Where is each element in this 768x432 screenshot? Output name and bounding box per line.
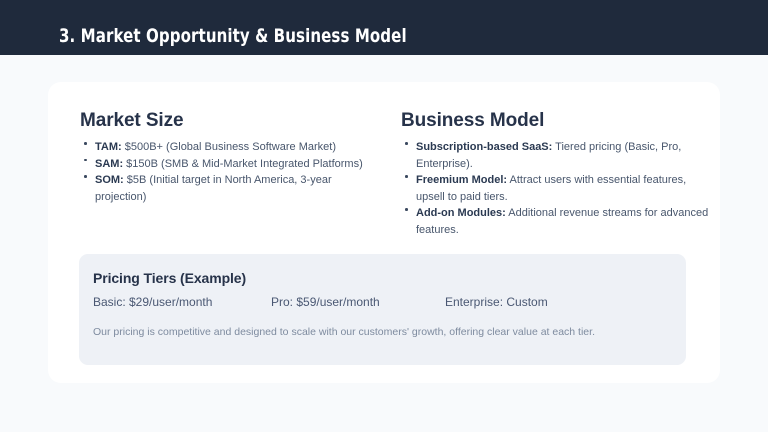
bullet-dot-icon <box>405 142 408 145</box>
column-heading-market-size: Market Size <box>80 110 380 132</box>
list-item: SAM: $150B (SMB & Mid-Market Integrated … <box>80 156 380 173</box>
pricing-note: Our pricing is competitive and designed … <box>93 325 665 340</box>
column-heading-business-model: Business Model <box>401 110 711 132</box>
business-model-bullet-list: Subscription-based SaaS: Tiered pricing … <box>401 139 711 238</box>
list-item-text: $5B (Initial target in North America, 3-… <box>95 174 332 203</box>
pricing-tier-basic: Basic: $29/user/month <box>93 294 212 310</box>
pricing-tier-enterprise: Enterprise: Custom <box>445 294 548 310</box>
list-item-label: Add-on Modules: <box>416 207 506 219</box>
column-business-model: Business Model Subscription-based SaaS: … <box>401 110 711 238</box>
page-title: 3. Market Opportunity & Business Model <box>59 25 407 47</box>
bullet-dot-icon <box>84 142 87 145</box>
column-market-size: Market Size TAM: $500B+ (Global Business… <box>80 110 380 205</box>
content-card: Market Size TAM: $500B+ (Global Business… <box>48 82 720 383</box>
pricing-tiers-panel: Pricing Tiers (Example) Basic: $29/user/… <box>79 254 686 365</box>
list-item: Freemium Model: Attract users with essen… <box>401 172 711 205</box>
list-item: TAM: $500B+ (Global Business Software Ma… <box>80 139 380 156</box>
market-size-bullet-list: TAM: $500B+ (Global Business Software Ma… <box>80 139 380 205</box>
bullet-dot-icon <box>405 208 408 211</box>
list-item-label: Freemium Model: <box>416 174 507 186</box>
slide-header-bar: 3. Market Opportunity & Business Model <box>0 0 768 55</box>
pricing-tiers-title: Pricing Tiers (Example) <box>93 270 246 287</box>
bullet-dot-icon <box>405 175 408 178</box>
list-item-label: Subscription-based SaaS: <box>416 141 552 153</box>
slide: 3. Market Opportunity & Business Model M… <box>0 0 768 432</box>
list-item-label: SAM: <box>95 158 123 170</box>
list-item-label: TAM: <box>95 141 122 153</box>
list-item-text: $150B (SMB & Mid-Market Integrated Platf… <box>123 158 363 170</box>
bullet-dot-icon <box>84 159 87 162</box>
list-item: Add-on Modules: Additional revenue strea… <box>401 205 711 238</box>
list-item-label: SOM: <box>95 174 124 186</box>
pricing-tier-pro: Pro: $59/user/month <box>271 294 380 310</box>
list-item: Subscription-based SaaS: Tiered pricing … <box>401 139 711 172</box>
bullet-dot-icon <box>84 175 87 178</box>
list-item: SOM: $5B (Initial target in North Americ… <box>80 172 380 205</box>
list-item-text: $500B+ (Global Business Software Market) <box>122 141 336 153</box>
